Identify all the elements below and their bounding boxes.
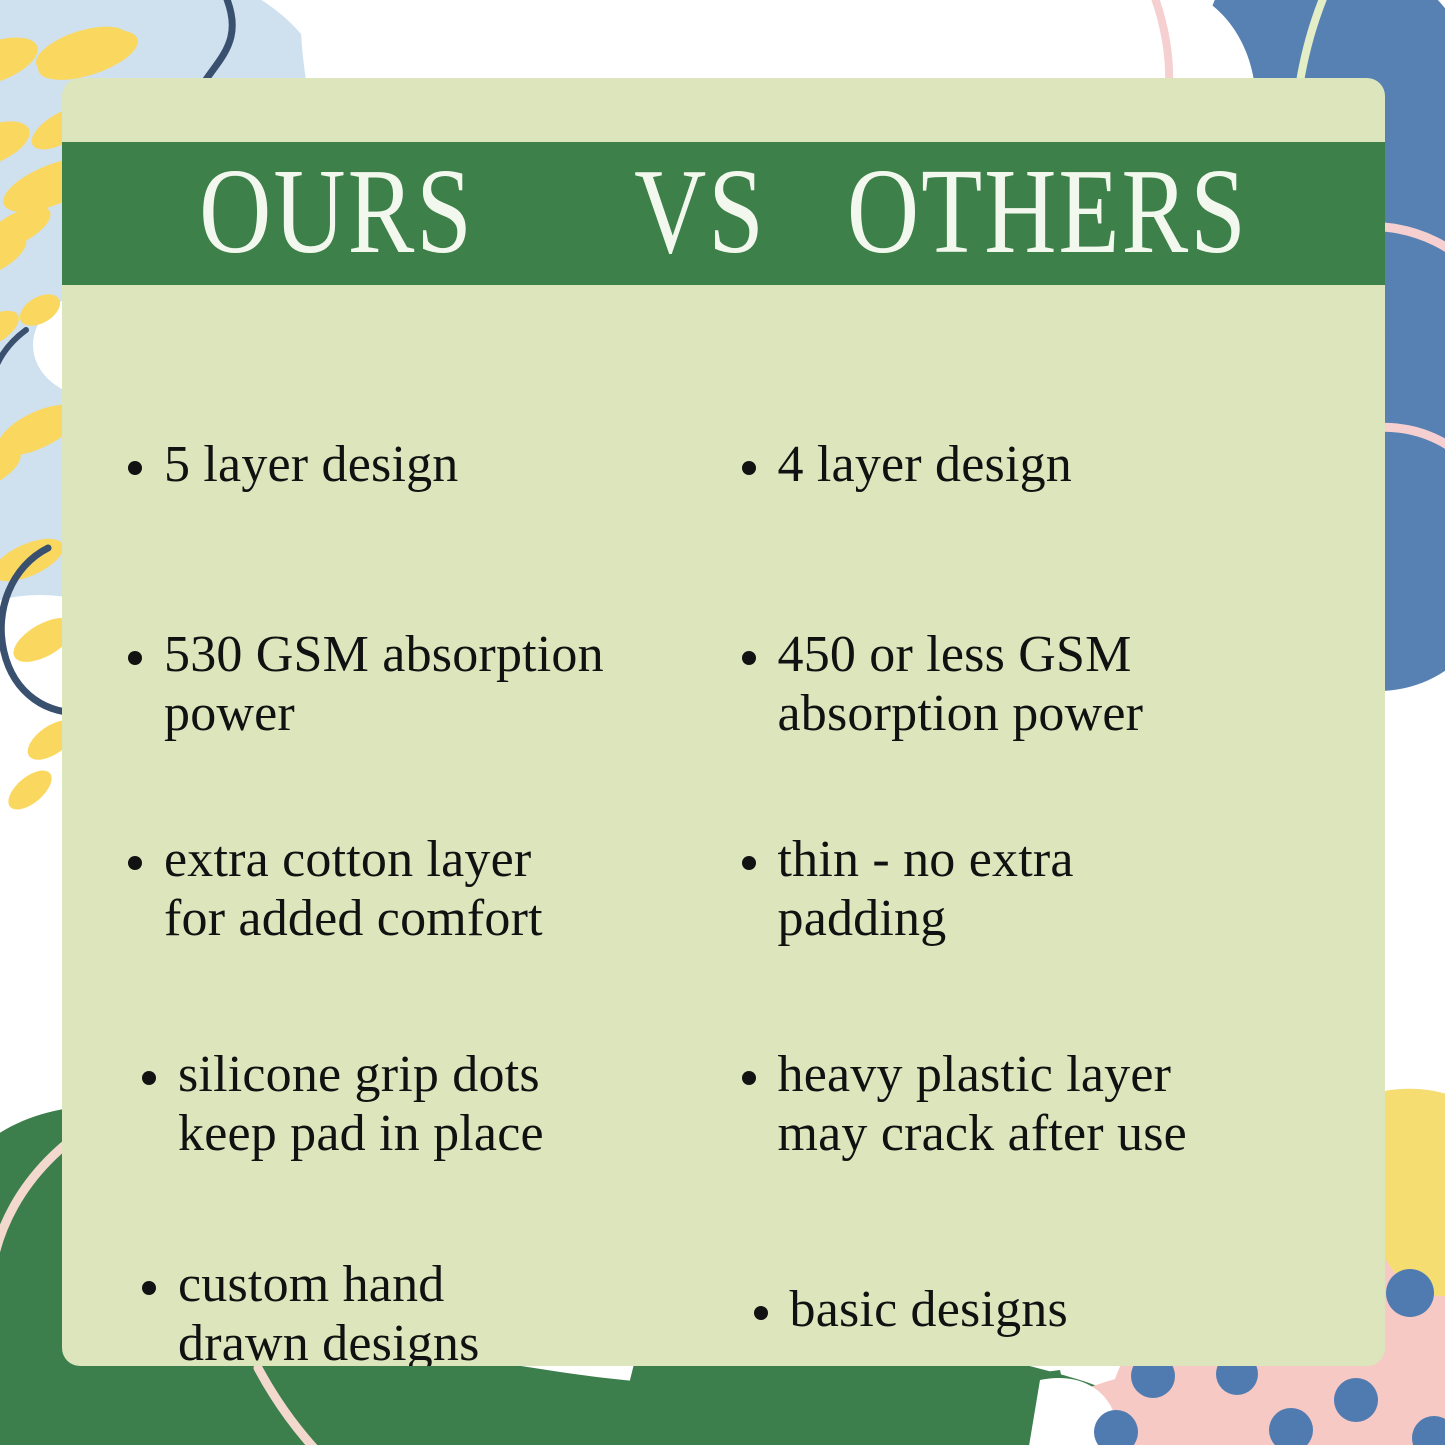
- bullet-dot-icon: [142, 1071, 156, 1085]
- bullet-dot-icon: [742, 651, 756, 665]
- bullet-text: custom hand drawn designs: [178, 1255, 480, 1366]
- bullet-dot-icon: [742, 461, 756, 475]
- bullet-dot-icon: [754, 1306, 768, 1320]
- comparison-columns: 5 layer design 530 GSM absorption power …: [62, 285, 1385, 1366]
- list-item: heavy plastic layer may crack after use: [742, 1045, 1187, 1164]
- bullet-text: 5 layer design: [164, 435, 459, 494]
- bullet-dot-icon: [128, 461, 142, 475]
- bullet-dot-icon: [742, 1071, 756, 1085]
- list-item: custom hand drawn designs: [142, 1255, 480, 1366]
- list-item: basic designs: [754, 1280, 1068, 1339]
- list-item: 450 or less GSM absorption power: [742, 625, 1144, 744]
- list-item: 5 layer design: [128, 435, 459, 494]
- column-ours: 5 layer design 530 GSM absorption power …: [62, 285, 724, 1366]
- bullet-dot-icon: [742, 856, 756, 870]
- bullet-dot-icon: [128, 651, 142, 665]
- comparison-card: OURS VS OTHERS 5 layer design 530 GSM ab…: [62, 78, 1385, 1366]
- bullet-text: extra cotton layer for added comfort: [164, 830, 543, 949]
- bullet-dot-icon: [142, 1281, 156, 1295]
- bullet-text: 450 or less GSM absorption power: [778, 625, 1144, 744]
- list-item: silicone grip dots keep pad in place: [142, 1045, 544, 1164]
- bullet-dot-icon: [128, 856, 142, 870]
- bullet-text: 530 GSM absorption power: [164, 625, 604, 744]
- bullet-text: 4 layer design: [778, 435, 1073, 494]
- column-others: 4 layer design 450 or less GSM absorptio…: [724, 285, 1386, 1366]
- bullet-text: silicone grip dots keep pad in place: [178, 1045, 544, 1164]
- list-item: thin - no extra padding: [742, 830, 1074, 949]
- page-title: OURS VS OTHERS: [199, 150, 1248, 277]
- list-item: extra cotton layer for added comfort: [128, 830, 543, 949]
- bullet-text: thin - no extra padding: [778, 830, 1074, 949]
- list-item: 4 layer design: [742, 435, 1073, 494]
- bullet-text: heavy plastic layer may crack after use: [778, 1045, 1187, 1164]
- infographic-canvas: OURS VS OTHERS 5 layer design 530 GSM ab…: [0, 0, 1445, 1445]
- header-banner: OURS VS OTHERS: [62, 142, 1385, 285]
- bullet-text: basic designs: [790, 1280, 1068, 1339]
- list-item: 530 GSM absorption power: [128, 625, 604, 744]
